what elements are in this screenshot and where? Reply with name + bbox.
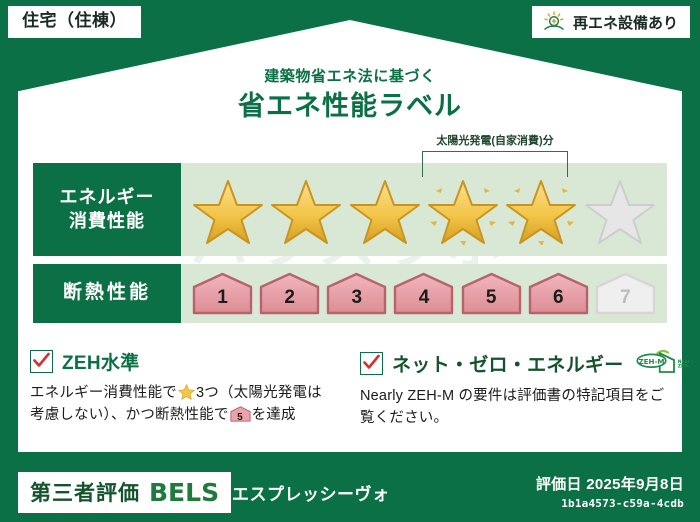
claim-zeh-title: ZEH水準 (62, 348, 140, 375)
house-grade-value: 5 (230, 410, 251, 426)
energy-performance-row: エネルギー 消費性能 太陽光発電(自家消費)分 (33, 163, 667, 256)
star-filled-icon (348, 175, 422, 245)
insulation-grade-filled: 4 (392, 271, 455, 316)
insulation-grade-empty: 7 (594, 271, 657, 316)
evaluation-info: 評価日 2025年9月8日 1b1a4573-c59a-4cdb (536, 473, 684, 510)
check-icon (360, 352, 383, 375)
insulation-grades-container: 1234567 (181, 264, 667, 323)
energy-label-line2: 消費性能 (69, 210, 145, 233)
star-filled-icon (269, 175, 343, 245)
insulation-grade-value: 6 (527, 287, 590, 309)
evaluation-id: 1b1a4573-c59a-4cdb (536, 497, 684, 510)
star-filled-icon (426, 175, 500, 245)
star-filled-icon (504, 175, 578, 245)
insulation-grade-value: 3 (325, 287, 388, 309)
claim-nze-title: ネット・ゼロ・エネルギー (392, 350, 624, 377)
claim-zeh-body-post: を達成 (252, 407, 296, 423)
claim-nze-header: ネット・ゼロ・エネルギー ZEH-M Nearly ZEH-M (360, 348, 678, 378)
brand-name: エスプレッシーヴォ (232, 480, 390, 505)
renewable-equipment-label: 再エネ設備あり (573, 12, 678, 33)
svg-text:ZEH-M: ZEH-M (677, 364, 688, 370)
sun-renewable-icon (542, 11, 566, 33)
energy-performance-label: エネルギー 消費性能 (33, 163, 181, 256)
insulation-grade-value: 7 (594, 287, 657, 309)
insulation-grade-value: 5 (460, 287, 523, 309)
solar-bracket (422, 151, 568, 177)
bels-en-label: BELS (149, 478, 219, 507)
claim-zeh-standard: ZEH水準 エネルギー消費性能で 3つ（太陽光発電は考慮しない）、かつ断熱性能で… (0, 348, 350, 430)
claim-nze-body: Nearly ZEH-M の要件は評価書の特記項目をご覧ください。 (360, 385, 678, 430)
star-empty-icon (583, 175, 657, 245)
bels-badge: 第三者評価 BELS (18, 472, 231, 513)
claims-section: ZEH水準 エネルギー消費性能で 3つ（太陽光発電は考慮しない）、かつ断熱性能で… (0, 348, 700, 430)
house-grade-icon: 5 (230, 406, 251, 422)
claim-net-zero-energy: ネット・ゼロ・エネルギー ZEH-M Nearly ZEH-M Nearly Z… (350, 348, 700, 430)
building-type-tag: 住宅（住棟） (8, 6, 141, 38)
claim-zeh-body: エネルギー消費性能で 3つ（太陽光発電は考慮しない）、かつ断熱性能で 5 を達成 (30, 382, 328, 427)
insulation-grade-filled: 6 (527, 271, 590, 316)
insulation-grade-filled: 5 (460, 271, 523, 316)
svg-text:ZEH-M: ZEH-M (638, 357, 664, 366)
insulation-grade-filled: 2 (258, 271, 321, 316)
insulation-grade-filled: 3 (325, 271, 388, 316)
insulation-performance-row: 断熱性能 1234567 (33, 264, 667, 323)
energy-stars-container: 太陽光発電(自家消費)分 (181, 163, 667, 256)
solar-bracket-caption: 太陽光発電(自家消費)分 (395, 132, 595, 148)
claim-zeh-header: ZEH水準 (30, 348, 328, 375)
claim-zeh-body-pre: エネルギー消費性能で (30, 385, 177, 401)
energy-label-card: ハウスラボ 住宅（住棟） 再エネ設備あり 建築物省エネ法に基づく 省エネ性能ラベ… (0, 0, 700, 522)
insulation-performance-label: 断熱性能 (33, 264, 181, 323)
label-title: 省エネ性能ラベル (0, 84, 700, 123)
renewable-equipment-tag: 再エネ設備あり (532, 6, 690, 38)
insulation-grade-value: 4 (392, 287, 455, 309)
bels-jp-label: 第三者評価 (30, 477, 140, 507)
insulation-grade-value: 2 (258, 287, 321, 309)
evaluation-date: 評価日 2025年9月8日 (536, 473, 684, 494)
zeh-m-logo: ZEH-M Nearly ZEH-M (635, 348, 689, 378)
footer-bar: 第三者評価 BELS エスプレッシーヴォ 評価日 2025年9月8日 1b1a4… (0, 460, 700, 522)
label-subtitle: 建築物省エネ法に基づく (0, 65, 700, 86)
insulation-grade-value: 1 (191, 287, 254, 309)
star-icon (178, 384, 195, 400)
energy-label-line1: エネルギー (60, 186, 155, 209)
insulation-grade-filled: 1 (191, 271, 254, 316)
star-filled-icon (191, 175, 265, 245)
check-icon (30, 350, 53, 373)
